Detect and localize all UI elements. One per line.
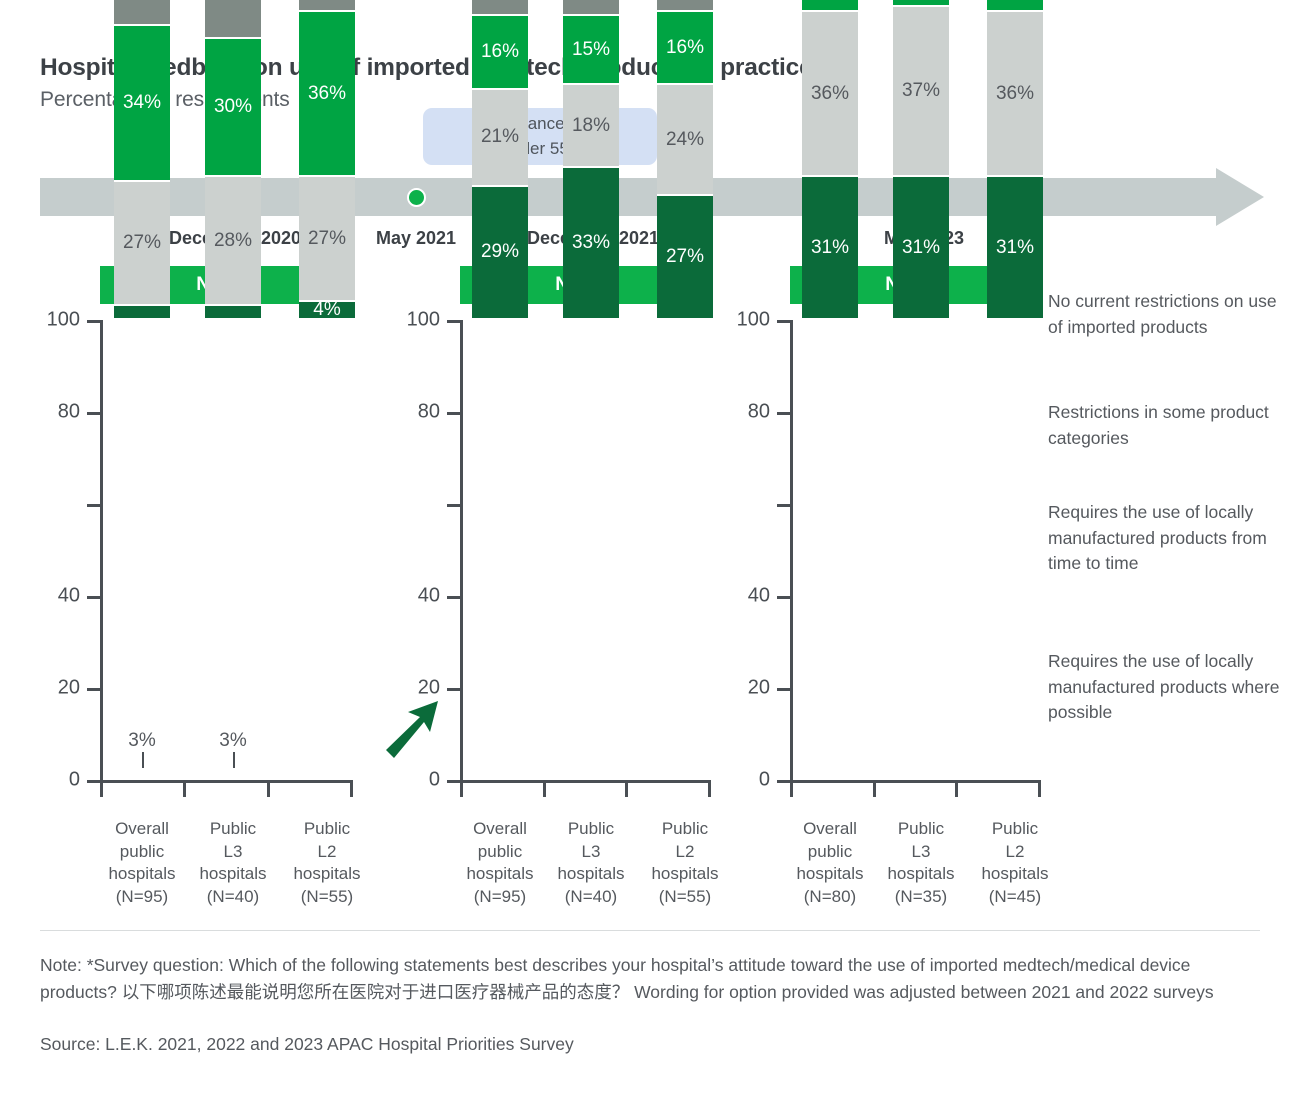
- bar-segment-1-2-1[interactable]: 24%: [657, 85, 713, 195]
- stacked-bar-1-1[interactable]: 33%18%15%35%: [563, 0, 619, 320]
- x-category-line-1-1-1: L3: [557, 841, 624, 864]
- x-axis-tick-2-1: [873, 780, 876, 797]
- x-category-line-1-2-2: hospitals: [651, 863, 718, 886]
- x-axis-tick-0-3: [350, 780, 353, 797]
- x-category-line-0-0-1: public: [108, 841, 175, 864]
- y-tick-2-80: [777, 412, 790, 415]
- bar-segment-2-0-1[interactable]: 36%: [802, 12, 858, 178]
- legend-item-local-where-possible: Requires the use of locally manufactured…: [1048, 649, 1280, 726]
- bar-label-leader-0-0-0: [142, 752, 144, 768]
- x-category-line-1-2-3: (N=55): [651, 886, 718, 909]
- bar-segment-1-2-0[interactable]: 27%: [657, 196, 713, 320]
- bar-segment-0-2-2[interactable]: 36%: [299, 12, 355, 178]
- x-category-line-2-2-1: L2: [981, 841, 1048, 864]
- y-tick-0-60: [87, 504, 100, 507]
- bar-segment-2-2-1[interactable]: 36%: [987, 12, 1043, 178]
- x-category-line-1-1-3: (N=40): [557, 886, 624, 909]
- bar-segment-0-2-3[interactable]: 33%: [299, 0, 355, 12]
- y-tick-label-1-0: 0: [429, 769, 440, 792]
- timeline-arrow-head-icon: [1216, 168, 1264, 226]
- x-category-line-0-2-1: L2: [293, 841, 360, 864]
- x-axis-baseline-0: [100, 780, 350, 783]
- y-tick-label-1-40: 40: [418, 585, 440, 608]
- x-axis-tick-1-0: [460, 780, 463, 797]
- y-tick-1-20: [447, 688, 460, 691]
- x-category-label-1-1: PublicL3hospitals(N=40): [557, 818, 624, 908]
- y-tick-label-0-20: 20: [58, 677, 80, 700]
- y-tick-0-20: [87, 688, 100, 691]
- bar-outside-label-0-0-0: 3%: [128, 730, 155, 752]
- bar-outside-label-0-1-0: 3%: [219, 730, 246, 752]
- x-category-line-0-0-3: (N=95): [108, 886, 175, 909]
- stacked-bar-2-1[interactable]: 31%37%14%17%: [893, 0, 949, 320]
- bar-segment-2-1-2[interactable]: 14%: [893, 0, 949, 7]
- bar-segment-1-0-2[interactable]: 16%: [472, 16, 528, 90]
- chart-page: Hospital feedback on use of imported med…: [0, 0, 1300, 1096]
- y-tick-label-1-100: 100: [407, 309, 440, 332]
- x-category-line-1-0-0: Overall: [466, 818, 533, 841]
- x-category-line-2-0-0: Overall: [796, 818, 863, 841]
- legend-item-some-categories: Restrictions in some product categories: [1048, 400, 1280, 451]
- x-category-line-0-2-0: Public: [293, 818, 360, 841]
- x-category-line-0-1-0: Public: [199, 818, 266, 841]
- x-category-line-2-2-2: hospitals: [981, 863, 1048, 886]
- footnote-source: Source: L.E.K. 2021, 2022 and 2023 APAC …: [40, 1034, 574, 1055]
- timeline-dot-1: [407, 188, 426, 207]
- bar-segment-1-0-0[interactable]: 29%: [472, 187, 528, 320]
- x-category-label-0-1: PublicL3hospitals(N=40): [199, 818, 266, 908]
- stacked-bar-2-0[interactable]: 31%36%21%11%: [802, 0, 858, 320]
- x-category-line-1-2-1: L2: [651, 841, 718, 864]
- stacked-bar-1-0[interactable]: 29%21%16%34%: [472, 0, 528, 320]
- x-category-line-2-2-0: Public: [981, 818, 1048, 841]
- bar-segment-1-1-0[interactable]: 33%: [563, 168, 619, 320]
- bar-segment-2-0-2[interactable]: 21%: [802, 0, 858, 12]
- bar-segment-1-0-3[interactable]: 34%: [472, 0, 528, 16]
- y-tick-2-40: [777, 596, 790, 599]
- x-category-line-0-0-2: hospitals: [108, 863, 175, 886]
- x-category-line-0-1-3: (N=40): [199, 886, 266, 909]
- x-category-line-2-2-3: (N=45): [981, 886, 1048, 909]
- y-tick-0-100: [87, 320, 100, 323]
- footnote-note: Note: *Survey question: Which of the fol…: [40, 952, 1265, 1006]
- bar-segment-0-2-0[interactable]: 4%: [299, 302, 355, 320]
- x-category-line-1-0-2: hospitals: [466, 863, 533, 886]
- y-tick-2-0: [777, 780, 790, 783]
- x-category-line-0-2-2: hospitals: [293, 863, 360, 886]
- y-tick-0-80: [87, 412, 100, 415]
- bar-label-leader-0-1-0: [233, 752, 235, 768]
- bar-segment-0-0-3[interactable]: 36%: [114, 0, 170, 26]
- x-category-line-0-1-2: hospitals: [199, 863, 266, 886]
- y-tick-1-100: [447, 320, 460, 323]
- x-category-label-1-2: PublicL2hospitals(N=55): [651, 818, 718, 908]
- bar-segment-2-1-0[interactable]: 31%: [893, 177, 949, 320]
- x-category-line-2-1-0: Public: [887, 818, 954, 841]
- x-category-line-1-1-2: hospitals: [557, 863, 624, 886]
- timeline-label-1: May 2021: [376, 228, 456, 249]
- x-category-line-0-2-3: (N=55): [293, 886, 360, 909]
- x-axis-tick-2-3: [1038, 780, 1041, 797]
- stacked-bar-0-2[interactable]: 4%27%36%33%: [299, 0, 355, 320]
- stacked-bar-0-1[interactable]: 28%30%40%: [205, 0, 261, 320]
- bar-segment-1-1-1[interactable]: 18%: [563, 85, 619, 168]
- y-tick-label-0-80: 80: [58, 401, 80, 424]
- x-category-line-1-0-3: (N=95): [466, 886, 533, 909]
- x-category-line-1-2-0: Public: [651, 818, 718, 841]
- y-tick-0-40: [87, 596, 100, 599]
- bar-segment-2-2-0[interactable]: 31%: [987, 177, 1043, 320]
- footer-divider: [40, 930, 1260, 931]
- x-axis-tick-1-2: [625, 780, 628, 797]
- x-category-label-0-0: Overallpublichospitals(N=95): [108, 818, 175, 908]
- bar-segment-1-1-3[interactable]: 35%: [563, 0, 619, 16]
- x-axis-tick-0-1: [183, 780, 186, 797]
- y-tick-label-2-20: 20: [748, 677, 770, 700]
- y-tick-label-2-40: 40: [748, 585, 770, 608]
- y-tick-label-1-80: 80: [418, 401, 440, 424]
- bar-segment-1-2-2[interactable]: 16%: [657, 12, 713, 86]
- x-category-label-2-1: PublicL3hospitals(N=35): [887, 818, 954, 908]
- y-tick-2-60: [777, 504, 790, 507]
- x-category-line-2-1-1: L3: [887, 841, 954, 864]
- legend-item-local-time-to-time: Requires the use of locally manufactured…: [1048, 500, 1280, 577]
- x-category-line-2-0-1: public: [796, 841, 863, 864]
- legend-item-no-restrictions: No current restrictions on use of import…: [1048, 289, 1280, 340]
- x-category-line-0-1-1: L3: [199, 841, 266, 864]
- y-axis-line-2: [790, 320, 793, 782]
- bar-segment-1-1-2[interactable]: 15%: [563, 16, 619, 85]
- x-category-line-2-1-3: (N=35): [887, 886, 954, 909]
- x-category-line-2-0-3: (N=80): [796, 886, 863, 909]
- y-tick-label-2-80: 80: [748, 401, 770, 424]
- transition-arrow-icon: [372, 692, 444, 769]
- y-tick-1-80: [447, 412, 460, 415]
- bar-segment-0-1-0[interactable]: [205, 306, 261, 320]
- stacked-bar-2-2[interactable]: 31%36%27%7%: [987, 0, 1043, 320]
- y-tick-label-2-100: 100: [737, 309, 770, 332]
- bar-segment-2-2-2[interactable]: 27%: [987, 0, 1043, 12]
- x-axis-tick-1-3: [708, 780, 711, 797]
- bar-segment-0-0-0[interactable]: [114, 306, 170, 320]
- y-tick-1-0: [447, 780, 460, 783]
- x-category-label-2-0: Overallpublichospitals(N=80): [796, 818, 863, 908]
- bar-segment-0-2-1[interactable]: 27%: [299, 177, 355, 301]
- x-axis-tick-1-1: [543, 780, 546, 797]
- bar-segment-2-0-0[interactable]: 31%: [802, 177, 858, 320]
- x-category-label-2-2: PublicL2hospitals(N=45): [981, 818, 1048, 908]
- y-tick-2-100: [777, 320, 790, 323]
- bar-segment-1-2-3[interactable]: 33%: [657, 0, 713, 12]
- y-tick-0-0: [87, 780, 100, 783]
- x-category-label-1-0: Overallpublichospitals(N=95): [466, 818, 533, 908]
- x-axis-tick-0-0: [100, 780, 103, 797]
- x-category-label-0-2: PublicL2hospitals(N=55): [293, 818, 360, 908]
- y-tick-1-40: [447, 596, 460, 599]
- bar-segment-0-0-1[interactable]: 27%: [114, 182, 170, 306]
- x-category-line-1-1-0: Public: [557, 818, 624, 841]
- x-axis-tick-0-2: [267, 780, 270, 797]
- x-category-line-2-0-2: hospitals: [796, 863, 863, 886]
- y-axis-line-0: [100, 320, 103, 782]
- stacked-bar-0-0[interactable]: 27%34%36%: [114, 0, 170, 320]
- x-axis-tick-2-2: [955, 780, 958, 797]
- bar-segment-0-1-3[interactable]: 40%: [205, 0, 261, 39]
- x-category-line-1-0-1: public: [466, 841, 533, 864]
- bar-segment-0-1-2[interactable]: 30%: [205, 39, 261, 177]
- bar-segment-2-1-1[interactable]: 37%: [893, 7, 949, 177]
- x-category-line-2-1-2: hospitals: [887, 863, 954, 886]
- y-tick-label-0-0: 0: [69, 769, 80, 792]
- y-tick-label-2-0: 0: [759, 769, 770, 792]
- stacked-bar-1-2[interactable]: 27%24%16%33%: [657, 0, 713, 320]
- bar-segment-0-0-2[interactable]: 34%: [114, 26, 170, 182]
- y-tick-2-20: [777, 688, 790, 691]
- x-axis-baseline-2: [790, 780, 1038, 783]
- bar-segment-0-1-1[interactable]: 28%: [205, 177, 261, 306]
- y-tick-label-0-100: 100: [47, 309, 80, 332]
- y-axis-line-1: [460, 320, 463, 782]
- y-tick-1-60: [447, 504, 460, 507]
- y-tick-label-0-40: 40: [58, 585, 80, 608]
- x-category-line-0-0-0: Overall: [108, 818, 175, 841]
- callout-bubble: Issuance of Order 551: [423, 108, 657, 165]
- x-axis-tick-2-0: [790, 780, 793, 797]
- x-axis-baseline-1: [460, 780, 708, 783]
- bar-segment-1-0-1[interactable]: 21%: [472, 90, 528, 187]
